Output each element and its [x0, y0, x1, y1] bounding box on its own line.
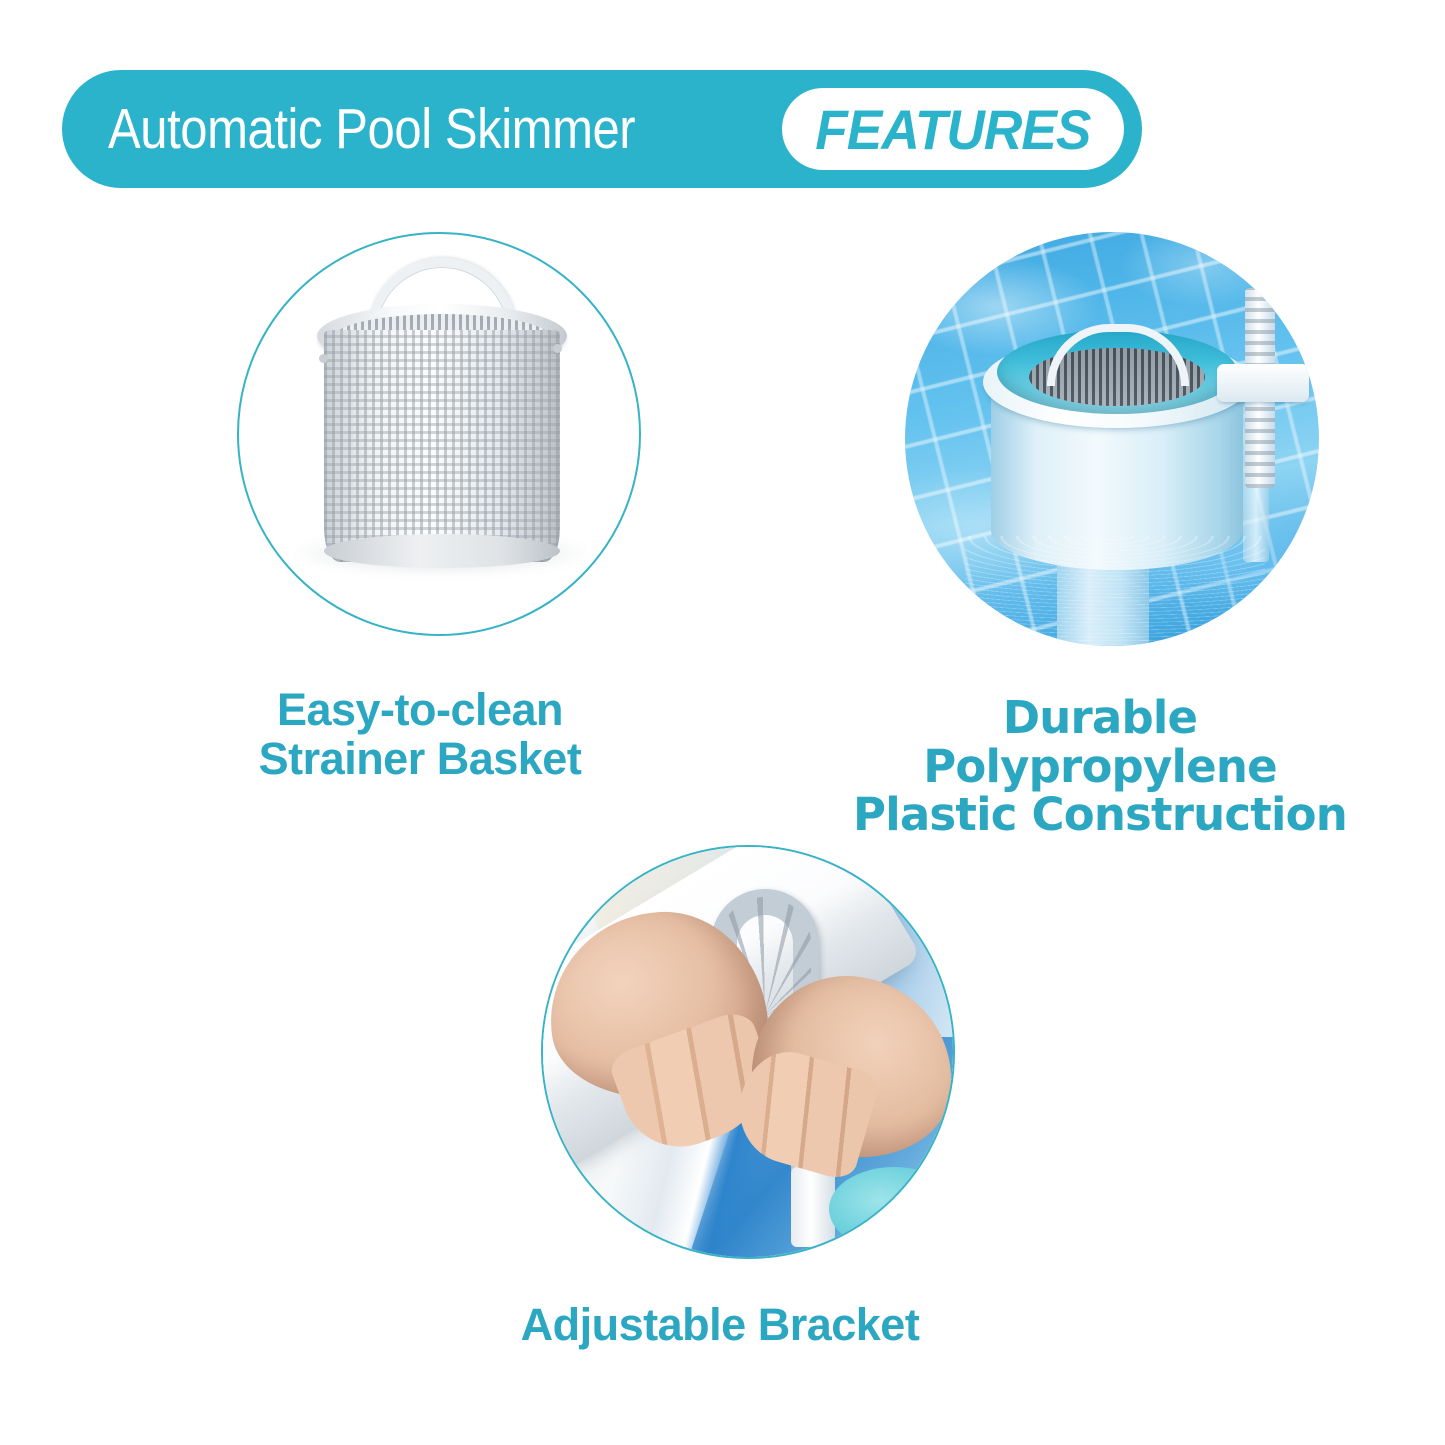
feature-caption-strainer-basket: Easy-to-clean Strainer Basket	[180, 686, 660, 783]
page-title: Automatic Pool Skimmer	[108, 96, 635, 162]
feature-card-adjustable-bracket: Adjustable Bracket	[440, 845, 1000, 1350]
pool-surface-ripple	[965, 536, 1265, 646]
adjustable-bracket-image	[541, 845, 955, 1259]
strainer-basket-image	[237, 232, 641, 636]
pool-water-illustration	[905, 232, 1319, 646]
mounting-bracket-clamp	[1217, 364, 1309, 402]
basket-tab-right	[553, 344, 562, 353]
features-badge: FEATURES	[782, 88, 1124, 170]
pool-skimmer-image	[905, 232, 1319, 646]
basket-tab-left	[319, 354, 328, 363]
feature-caption-adjustable-bracket: Adjustable Bracket	[440, 1301, 1000, 1350]
header-banner: Automatic Pool Skimmer FEATURES	[62, 70, 1142, 188]
feature-caption-polypropylene: Durable Polypropylene Plastic Constructi…	[820, 694, 1380, 840]
feature-card-strainer-basket: Easy-to-clean Strainer Basket	[180, 232, 660, 783]
features-badge-label: FEATURES	[816, 97, 1091, 162]
basket-illustration	[239, 234, 639, 634]
bracket-installation-illustration	[543, 847, 953, 1257]
pool-water-highlight	[829, 1167, 955, 1251]
basket-perforated-body	[324, 330, 560, 562]
feature-card-polypropylene: Durable Polypropylene Plastic Constructi…	[830, 232, 1370, 840]
